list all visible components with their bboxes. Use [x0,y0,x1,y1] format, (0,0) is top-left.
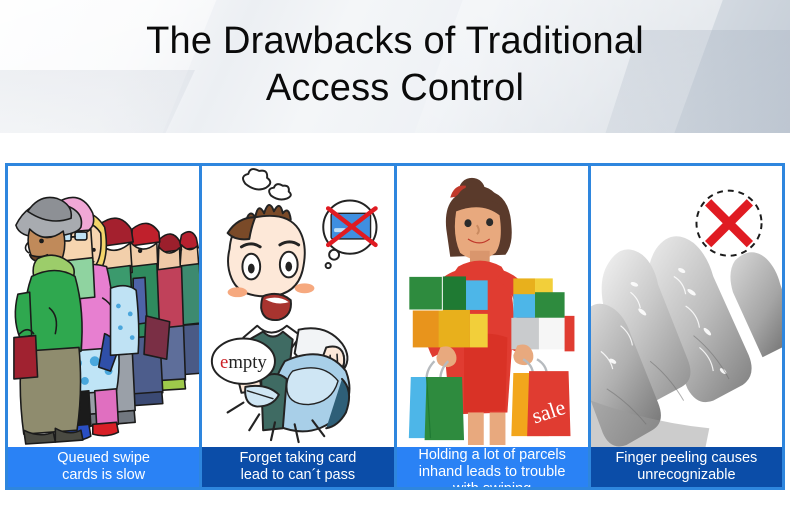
peeling-fingertips-photo [591,166,782,447]
page-title-line-1: The Drawbacks of Traditional [146,20,644,62]
caption-line-1: Forget taking card [239,450,356,466]
caption-line-2: inhand leads to trouble [419,464,566,480]
caption-line-1: Holding a lot of parcels [418,447,566,463]
page-title-line-2: Access Control [0,65,790,112]
caption-line-2: unrecognizable [637,467,735,483]
caption-line-3: with swiping [453,481,531,487]
page-title: The Drawbacks of Traditional Access Cont… [0,18,790,112]
shocked-man-empty-wallet-illustration: empty [202,166,393,447]
panel-peeling-finger[interactable]: Finger peeling causes unrecognizable [588,166,782,487]
caption-line-1: Queued swipe [57,450,150,466]
woman-carrying-parcels-illustration: sale [397,166,588,447]
queue-of-people-illustration [8,166,199,447]
caption-line-2: cards is slow [62,467,145,483]
drawbacks-panel-strip: Queued swipe cards is slow [5,163,785,490]
empty-wallet-label: empty [220,352,267,373]
caption-line-1: Finger peeling causes [615,450,757,466]
panel-caption-queue: Queued swipe cards is slow [8,447,199,487]
header-banner: The Drawbacks of Traditional Access Cont… [0,0,790,133]
panel-forgot-card[interactable]: empty Forget taking card [199,166,393,487]
slide-root: The Drawbacks of Traditional Access Cont… [0,0,790,524]
panel-caption-hands-full: Holding a lot of parcels inhand leads to… [397,447,588,487]
panel-caption-peeling-finger: Finger peeling causes unrecognizable [591,447,782,487]
caption-line-2: lead to can´t pass [241,467,355,483]
panel-queue[interactable]: Queued swipe cards is slow [8,166,199,487]
panel-hands-full[interactable]: sale Holding a lot of parcels inhand lea… [394,166,588,487]
panel-caption-forgot-card: Forget taking card lead to can´t pass [202,447,393,487]
